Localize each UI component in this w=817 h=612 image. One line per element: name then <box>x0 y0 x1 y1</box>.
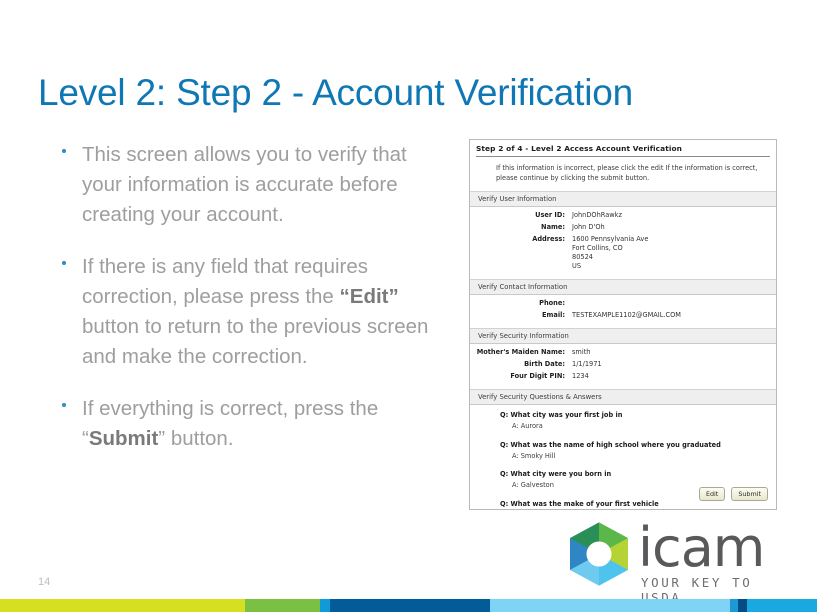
page-number: 14 <box>38 576 50 588</box>
question-text: Q: What city were you born in <box>500 470 776 480</box>
field-label: Address: <box>470 235 572 244</box>
field-phone: Phone: <box>470 299 776 308</box>
icam-logo: icam YOUR KEY TO USDA <box>566 519 780 591</box>
field-label: Four Digit PIN: <box>470 372 572 381</box>
field-value: TESTEXAMPLE1102@GMAIL.COM <box>572 311 681 320</box>
field-label: Name: <box>470 223 572 232</box>
bottom-bar-segment-2 <box>320 599 330 612</box>
field-birth-date: Birth Date: 1/1/1971 <box>470 360 776 369</box>
bullet-list: This screen allows you to verify that yo… <box>52 140 452 476</box>
edit-button[interactable]: Edit <box>699 487 725 501</box>
field-value: JohnDOhRawkz <box>572 211 622 220</box>
section-header-contact-information: Verify Contact Information <box>470 279 776 295</box>
list-item: If everything is correct, press the “Sub… <box>52 394 452 454</box>
field-label: Email: <box>470 311 572 320</box>
contact-information-fields: Phone: Email: TESTEXAMPLE1102@GMAIL.COM <box>470 299 776 320</box>
answer-text: A: Aurora <box>512 422 776 432</box>
field-value: John D'Oh <box>572 223 605 232</box>
bottom-bar-segment-1 <box>245 599 320 612</box>
field-label: Birth Date: <box>470 360 572 369</box>
bottom-bar-segment-3 <box>330 599 490 612</box>
list-item: This screen allows you to verify that yo… <box>52 140 452 230</box>
section-header-security-information: Verify Security Information <box>470 328 776 344</box>
field-value: 1600 Pennsylvania Ave Fort Collins, CO 8… <box>572 235 648 271</box>
bottom-bar-segment-5 <box>730 599 738 612</box>
bullet-text: This screen allows you to verify that yo… <box>82 140 452 230</box>
section-header-user-information: Verify User Information <box>470 191 776 207</box>
answer-text: A: Smoky Hill <box>512 452 776 462</box>
app-instructions: If this information is incorrect, please… <box>496 163 762 183</box>
field-label: User ID: <box>470 211 572 220</box>
bottom-bar-segment-4 <box>490 599 730 612</box>
security-question-item: Q: What was the make of your first vehic… <box>500 500 776 511</box>
app-step-header: Step 2 of 4 - Level 2 Access Account Ver… <box>476 144 770 157</box>
field-value: 1/1/1971 <box>572 360 602 369</box>
user-information-fields: User ID: JohnDOhRawkz Name: John D'Oh Ad… <box>470 211 776 271</box>
bottom-bar-segment-0 <box>0 599 245 612</box>
icam-wordmark: icam <box>638 521 764 575</box>
question-text: Q: What was the name of high school wher… <box>500 441 776 451</box>
bottom-color-bar <box>0 599 817 612</box>
list-item: If there is any field that requires corr… <box>52 252 452 372</box>
field-address: Address: 1600 Pennsylvania Ave Fort Coll… <box>470 235 776 271</box>
field-mothers-maiden-name: Mother's Maiden Name: smith <box>470 348 776 357</box>
bottom-bar-segment-6 <box>738 599 747 612</box>
field-value: smith <box>572 348 590 357</box>
app-action-buttons: Edit Submit <box>699 487 768 501</box>
bottom-bar-segment-7 <box>747 599 817 612</box>
field-value: 1234 <box>572 372 589 381</box>
field-user-id: User ID: JohnDOhRawkz <box>470 211 776 220</box>
embedded-app-screenshot: Step 2 of 4 - Level 2 Access Account Ver… <box>469 139 777 510</box>
bullet-text: If everything is correct, press the “Sub… <box>82 394 452 454</box>
security-information-fields: Mother's Maiden Name: smith Birth Date: … <box>470 348 776 381</box>
security-question-item: Q: What city was your first job in A: Au… <box>500 411 776 432</box>
security-question-item: Q: What was the name of high school wher… <box>500 441 776 462</box>
bullet-dot-icon <box>62 403 66 407</box>
bullet-dot-icon <box>62 261 66 265</box>
field-name: Name: John D'Oh <box>470 223 776 232</box>
bullet-text: If there is any field that requires corr… <box>82 252 452 372</box>
bullet-dot-icon <box>62 149 66 153</box>
field-label: Phone: <box>470 299 572 308</box>
field-email: Email: TESTEXAMPLE1102@GMAIL.COM <box>470 311 776 320</box>
question-text: Q: What city was your first job in <box>500 411 776 421</box>
field-label: Mother's Maiden Name: <box>470 348 572 357</box>
field-four-digit-pin: Four Digit PIN: 1234 <box>470 372 776 381</box>
icam-hexagon-mark-icon <box>566 521 632 587</box>
page-title: Level 2: Step 2 - Account Verification <box>38 70 633 116</box>
section-header-security-questions: Verify Security Questions & Answers <box>470 389 776 405</box>
submit-button[interactable]: Submit <box>731 487 768 501</box>
